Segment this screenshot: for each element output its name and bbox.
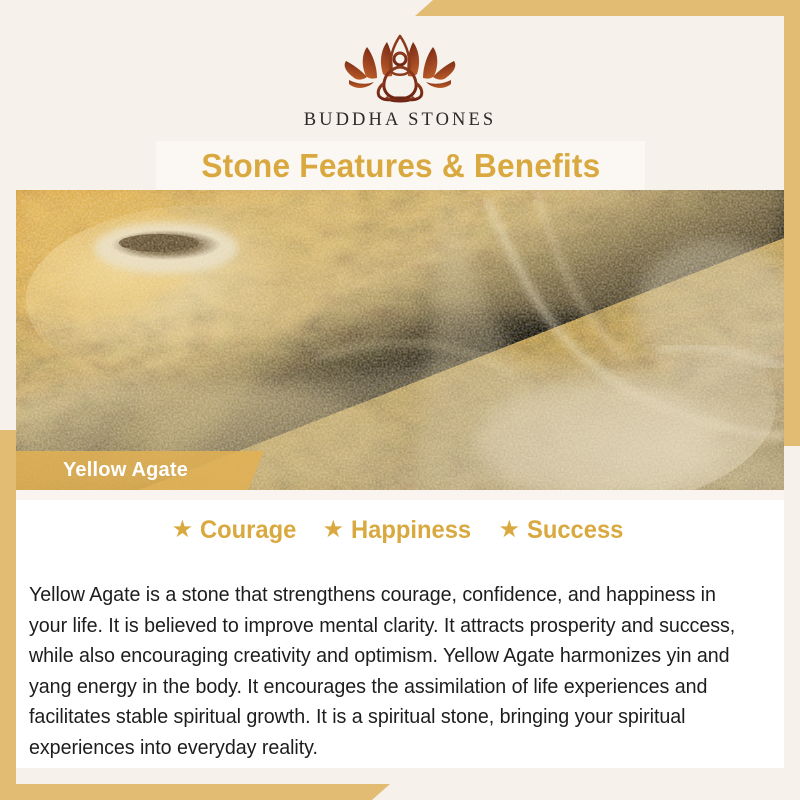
stone-name-label: Yellow Agate — [16, 459, 188, 482]
stone-photo-panel: Yellow Agate — [16, 190, 784, 490]
page-title: Stone Features & Benefits — [201, 147, 600, 185]
infographic-page: BUDDHA STONES Stone Features & Benefits — [0, 0, 800, 800]
decorative-gold-bar-bottom-left — [0, 784, 390, 800]
page-title-band: Stone Features & Benefits — [156, 141, 645, 190]
brand-name: BUDDHA STONES — [304, 110, 497, 131]
star-icon: ★ — [322, 518, 344, 542]
lotus-meditation-figure-icon — [334, 28, 466, 108]
decorative-gold-bar-top-right — [415, 0, 800, 16]
keyword-item-happiness: ★ Happiness — [322, 516, 477, 545]
keyword-label: Success — [527, 516, 623, 545]
stone-name-badge: Yellow Agate — [16, 451, 264, 490]
brand-header: BUDDHA STONES — [0, 16, 800, 141]
keyword-item-courage: ★ Courage — [172, 516, 302, 545]
star-icon: ★ — [498, 518, 520, 542]
stone-description-text: Yellow Agate is a stone that strengthens… — [29, 580, 751, 763]
keyword-label: Courage — [200, 516, 296, 545]
keyword-item-success: ★ Success — [498, 516, 628, 545]
stone-description-card: ★ Courage ★ Happiness ★ Success Yellow A… — [16, 490, 784, 768]
keyword-list: ★ Courage ★ Happiness ★ Success — [16, 516, 784, 545]
card-top-divider — [16, 490, 784, 500]
yellow-agate-stone-image — [16, 190, 784, 490]
keyword-label: Happiness — [351, 516, 471, 545]
star-icon: ★ — [172, 518, 194, 542]
decorative-gold-bar-left — [0, 430, 16, 784]
